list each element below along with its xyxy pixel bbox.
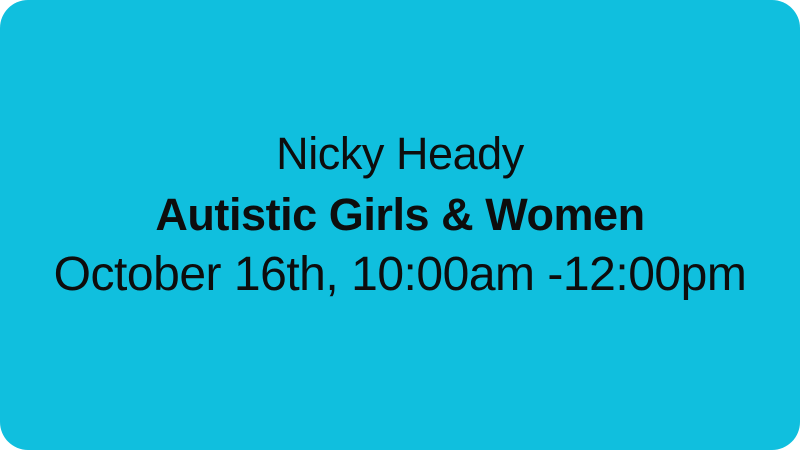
session-title: Autistic Girls & Women [0, 192, 800, 237]
speaker-name: Nicky Heady [0, 131, 800, 176]
event-card: Nicky Heady Autistic Girls & Women Octob… [0, 0, 800, 450]
event-date-time: October 16th, 10:00am -12:00pm [0, 251, 800, 299]
event-text-block: Nicky Heady Autistic Girls & Women Octob… [0, 131, 800, 299]
